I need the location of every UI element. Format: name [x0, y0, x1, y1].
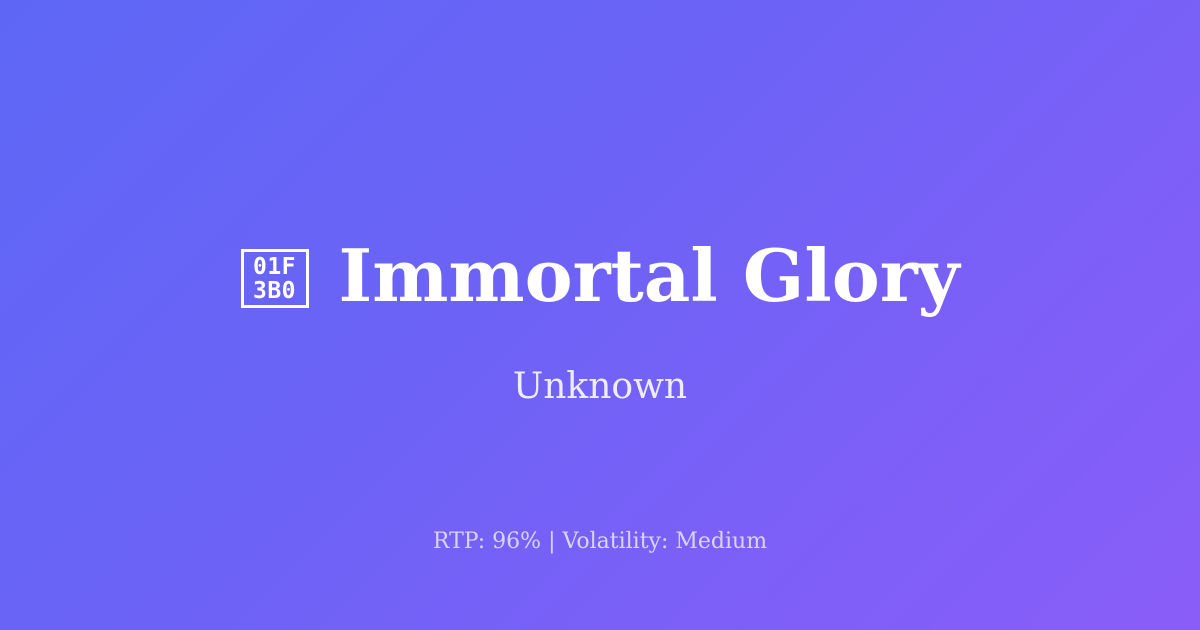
- slot-machine-icon-codepoint-low: 3B0: [253, 279, 296, 303]
- og-preview-card: 01F 3B0 Immortal Glory Unknown RTP: 96% …: [0, 0, 1200, 630]
- slot-machine-icon: 01F 3B0: [241, 249, 309, 308]
- game-meta-line: RTP: 96% | Volatility: Medium: [0, 527, 1200, 557]
- provider-subtitle: Unknown: [0, 363, 1200, 411]
- page-title: Immortal Glory: [339, 236, 960, 316]
- title-row: 01F 3B0 Immortal Glory: [0, 228, 1200, 324]
- slot-machine-icon-codepoint-high: 01F: [253, 255, 296, 279]
